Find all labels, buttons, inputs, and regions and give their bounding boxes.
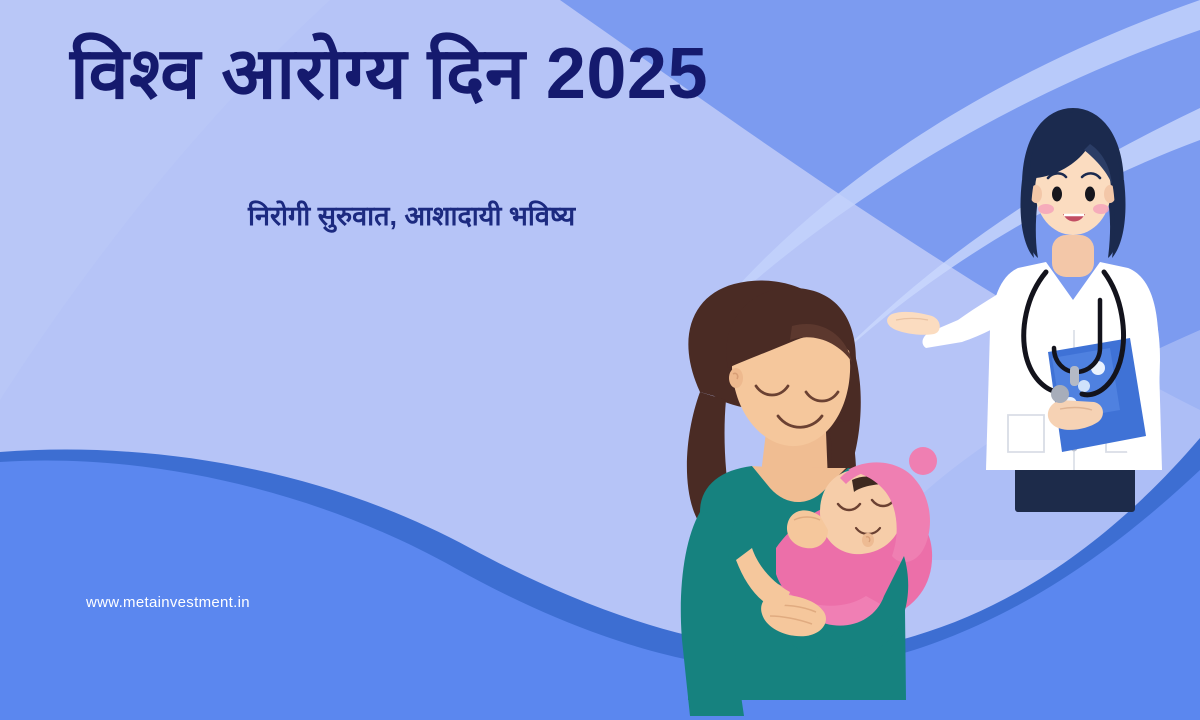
baby-hat-pompom [909, 447, 937, 475]
baby-ear [862, 533, 874, 547]
page-subtitle: निरोगी सुरुवात, आशादायी भविष्य [248, 196, 575, 233]
doctor-eye-right [1085, 187, 1095, 202]
doctor-cheek-right [1093, 204, 1109, 214]
mother-ear [729, 368, 743, 388]
stethoscope-chestpiece [1051, 385, 1069, 403]
website-url: www.metainvestment.in [86, 594, 250, 611]
doctor-neck [1052, 235, 1094, 277]
page-title: विश्व आरोग्य दिन 2025 [70, 38, 970, 110]
doctor-hand-open [887, 312, 940, 335]
doctor-cheek-left [1038, 204, 1054, 214]
clipboard-dot-2 [1078, 380, 1090, 392]
doctor-eye-left [1052, 187, 1062, 202]
mother-baby-figure [681, 281, 937, 716]
poster-canvas: विश्व आरोग्य दिन 2025 निरोगी सुरुवात, आश… [0, 0, 1200, 720]
stethoscope-earpiece [1070, 366, 1079, 386]
